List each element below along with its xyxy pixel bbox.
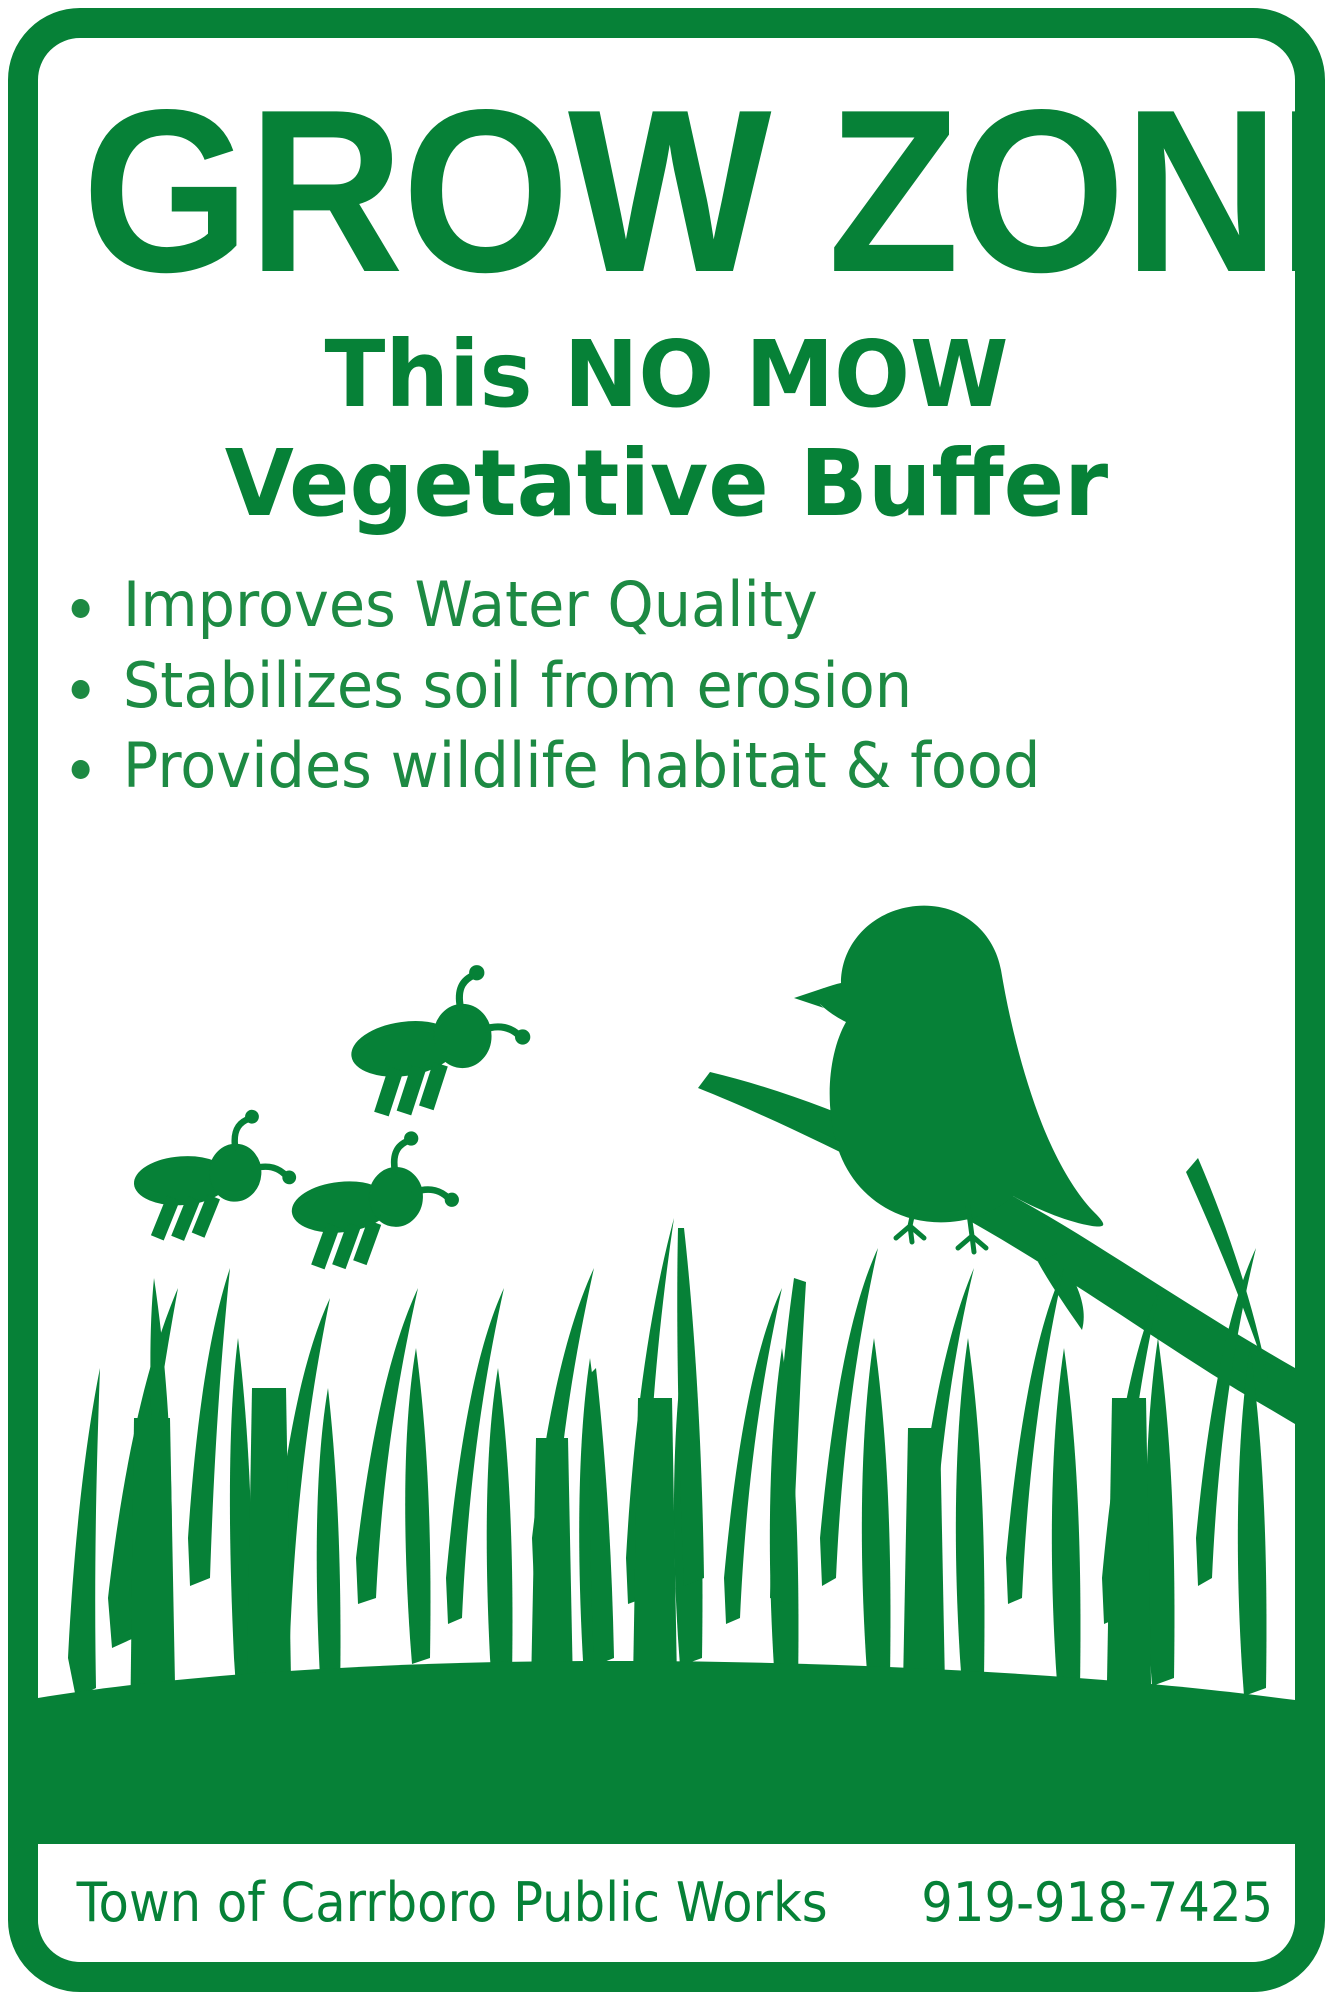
- bullet-icon: [72, 760, 90, 779]
- grow-zone-sign: GROW ZONE This NO MOW Vegetative Buffer …: [0, 0, 1333, 2000]
- benefits-list: Improves Water Quality Stabilizes soil f…: [38, 565, 1295, 807]
- list-item-label: Stabilizes soil from erosion: [123, 649, 912, 722]
- sign-text-block: GROW ZONE This NO MOW Vegetative Buffer …: [38, 38, 1295, 807]
- bullet-icon: [72, 599, 90, 618]
- branch-icon: [698, 1072, 1295, 1424]
- list-item-label: Improves Water Quality: [123, 568, 818, 641]
- list-item-label: Provides wildlife habitat & food: [123, 729, 1040, 802]
- bee-group: [127, 966, 530, 1277]
- footer-phone: 919-918-7425: [922, 1876, 1274, 1930]
- footer-agency: Town of Carrboro Public Works: [77, 1876, 828, 1930]
- bee-icon: [348, 966, 530, 1120]
- footer-divider: [38, 1822, 1295, 1844]
- list-item: Improves Water Quality: [64, 565, 1233, 646]
- bee-icon: [287, 1128, 461, 1277]
- subtitle-line-2: Vegetative Buffer: [57, 421, 1276, 531]
- footer: Town of Carrboro Public Works 919-918-74…: [38, 1844, 1295, 1962]
- bullet-icon: [72, 680, 90, 699]
- grass-icon: [38, 1218, 1295, 1844]
- subtitle-line-1: This NO MOW: [57, 292, 1276, 422]
- bird-icon: [794, 906, 1103, 1252]
- page-title: GROW ZONE: [82, 38, 1251, 292]
- list-item: Stabilizes soil from erosion: [64, 646, 1233, 727]
- sign-inner-panel: GROW ZONE This NO MOW Vegetative Buffer …: [38, 38, 1295, 1962]
- bee-icon: [127, 1102, 300, 1252]
- list-item: Provides wildlife habitat & food: [64, 726, 1233, 807]
